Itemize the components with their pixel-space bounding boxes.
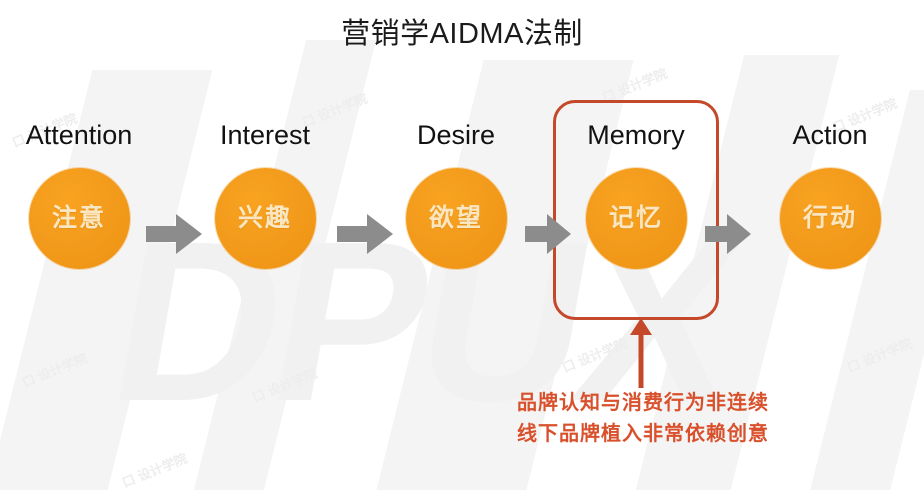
stage-interest[interactable]: Interest 兴趣	[180, 118, 350, 269]
stage-circle-desire[interactable]: 欲望	[406, 168, 507, 269]
stage-circle-memory[interactable]: 记忆	[586, 168, 687, 269]
callout-line-1: 品牌认知与消费行为非连续	[483, 388, 803, 419]
stage-label-cn: 欲望	[429, 206, 483, 231]
stage-desire[interactable]: Desire 欲望	[371, 118, 541, 269]
stage-label-cn: 记忆	[609, 206, 663, 231]
page-title: 营销学AIDMA法制	[0, 16, 924, 52]
stage-circle-attention[interactable]: 注意	[29, 168, 130, 269]
stage-circle-action[interactable]: 行动	[780, 168, 881, 269]
callout-annotation: 品牌认知与消费行为非连续 线下品牌植入非常依赖创意	[483, 388, 803, 450]
stage-circle-interest[interactable]: 兴趣	[215, 168, 316, 269]
callout-line-2: 线下品牌植入非常依赖创意	[483, 419, 803, 450]
right-arrow-icon	[705, 214, 751, 259]
stage-label-en: Memory	[551, 118, 721, 152]
slide-canvas: DPUX 口 设计学院 口 设计学院 口 设计学院 口 设计学院 口 设计学院 …	[0, 0, 924, 490]
stage-action[interactable]: Action 行动	[745, 118, 915, 269]
right-arrow-icon	[146, 214, 202, 259]
stage-label-en: Interest	[180, 118, 350, 152]
stage-label-en: Action	[745, 118, 915, 152]
stage-label-en: Attention	[0, 118, 164, 152]
right-arrow-icon	[525, 214, 571, 259]
stage-label-cn: 注意	[52, 206, 106, 231]
stage-attention[interactable]: Attention 注意	[0, 118, 164, 269]
right-arrow-icon	[337, 214, 393, 259]
stage-label-cn: 行动	[803, 206, 857, 231]
stage-label-cn: 兴趣	[238, 206, 292, 231]
stage-label-en: Desire	[371, 118, 541, 152]
stage-memory[interactable]: Memory 记忆	[551, 118, 721, 269]
up-arrow-icon	[630, 318, 652, 393]
